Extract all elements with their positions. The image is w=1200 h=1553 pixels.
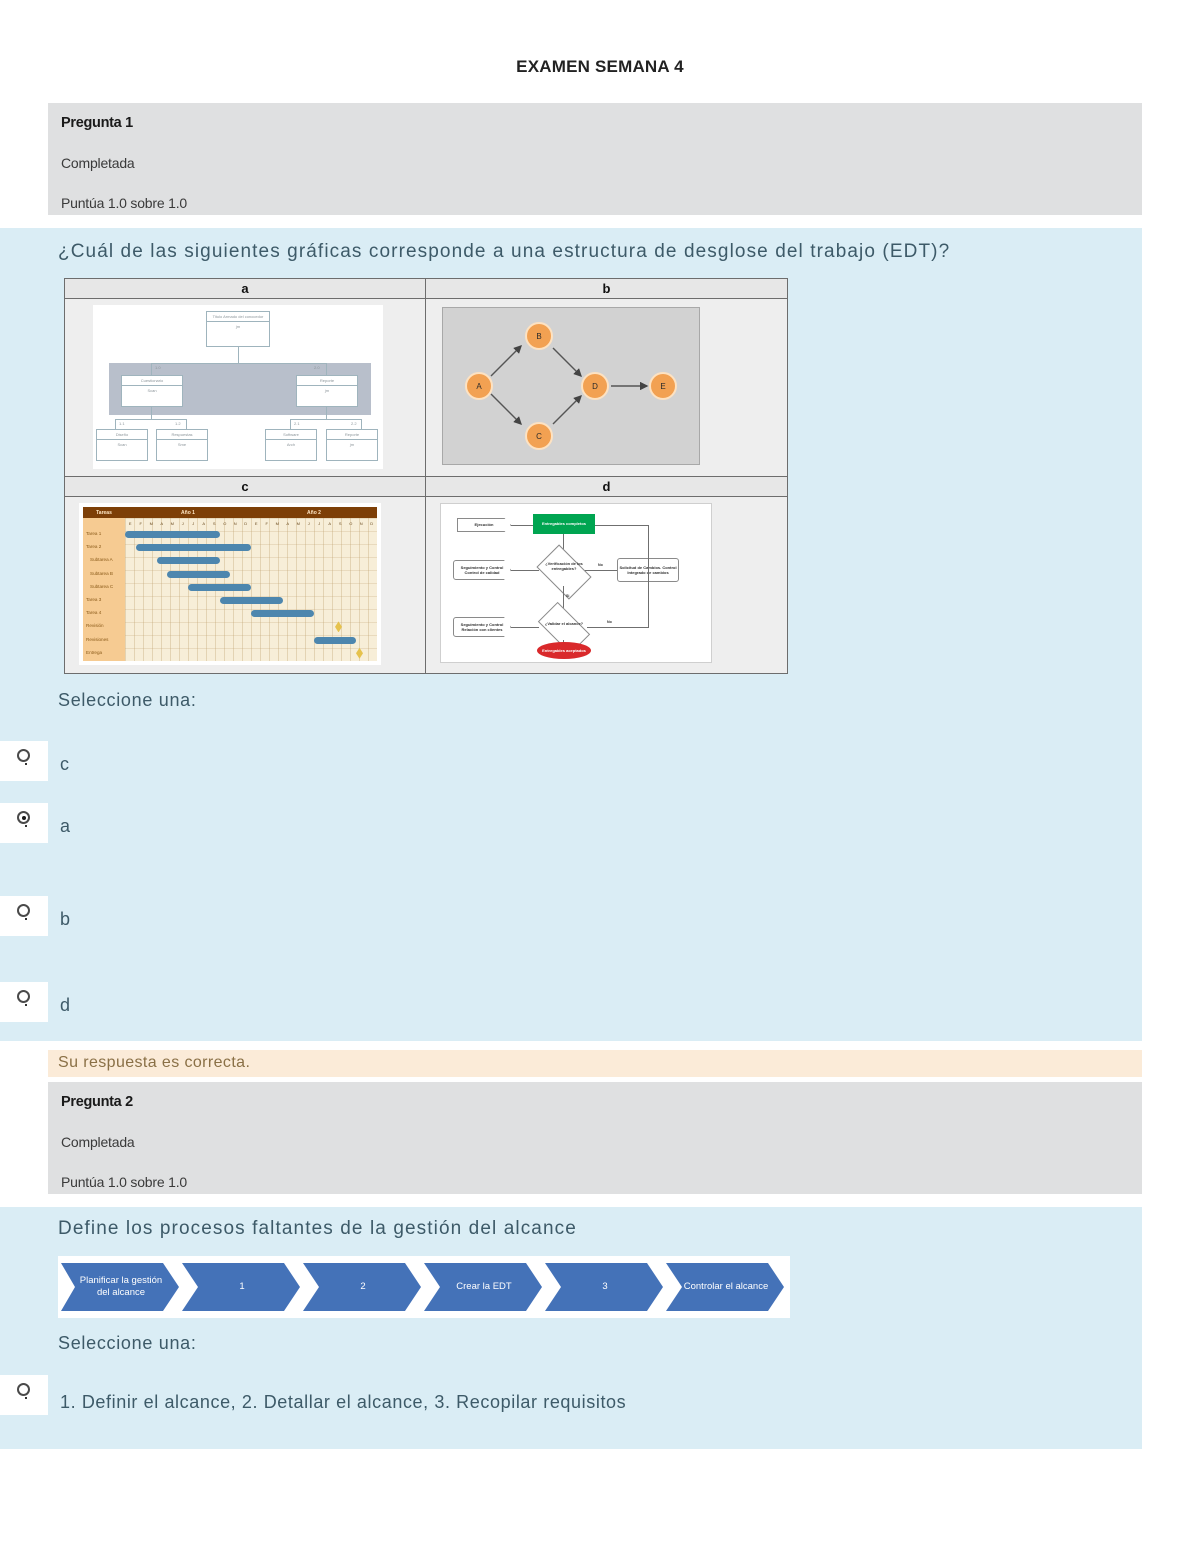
gantt-month-tick: M	[293, 521, 304, 526]
question-1-text: ¿Cuál de las siguientes gráficas corresp…	[58, 241, 950, 263]
figure-c-gantt-chart: Tareas Año 1 Año 2 EFMAMJJASONDEFMAMJJAS…	[65, 497, 426, 673]
flow-connector	[511, 570, 539, 571]
network-diagram: A B C D E	[442, 307, 700, 465]
wbs-diagram: Titulo Armado del conocedor jm 1.0 2.0 C…	[93, 305, 383, 469]
wbs-node-1-1: Diseño Scan	[96, 429, 148, 461]
gantt-month-tick: S	[335, 521, 346, 526]
flow-left-node-2: Seguimiento y Control Relación con clien…	[453, 617, 511, 637]
wbs-root-title: Titulo Armado del conocedor	[207, 312, 269, 321]
figure-caption-b: b	[426, 279, 787, 299]
wbs-connector	[361, 419, 362, 429]
gantt-month-tick: D	[241, 521, 252, 526]
process-step-1: Planificar la gestión del alcance	[61, 1263, 179, 1311]
question-2-number: Pregunta 2	[61, 1094, 1132, 1110]
wbs-code-1-1: 1.1	[119, 421, 125, 426]
wbs-node-2-1-title: Software	[266, 430, 316, 439]
question-2-grade: Puntúa 1.0 sobre 1.0	[61, 1174, 1132, 1190]
gantt-row-label: Tarea 2	[86, 544, 101, 549]
gantt-month-tick: M	[146, 521, 157, 526]
gantt-month-tick: J	[188, 521, 199, 526]
question-2-option-0-radio[interactable]	[0, 1375, 48, 1415]
flow-end-node: Entregables aceptados	[537, 642, 591, 659]
gantt-row-label: Tarea 1	[86, 531, 101, 536]
question-1-select-label: Seleccione una:	[58, 690, 197, 711]
question-1-state: Completada	[61, 155, 1132, 171]
gantt-month-tick: A	[283, 521, 294, 526]
gantt-header-tasks: Tareas	[83, 507, 125, 518]
wbs-code-1-0: 1.0	[155, 365, 161, 370]
gantt-month-tick: M	[167, 521, 178, 526]
page-title: EXAMEN SEMANA 4	[0, 57, 1200, 77]
gantt-month-tick: S	[209, 521, 220, 526]
process-step-5: 3	[545, 1263, 663, 1311]
question-1-option-2-label[interactable]: b	[60, 909, 71, 930]
process-step-6: Controlar el alcance	[666, 1263, 784, 1311]
gantt-month-tick: O	[220, 521, 231, 526]
network-node-a: A	[465, 372, 493, 400]
network-node-c: C	[525, 422, 553, 450]
wbs-node-1-0-sub: Scan	[122, 385, 182, 395]
flow-connector	[648, 525, 649, 627]
gantt-month-tick: O	[346, 521, 357, 526]
figure-caption-d: d	[426, 477, 787, 497]
gantt-row-label: Subtarea C	[90, 584, 113, 589]
gantt-row-label: Tarea 4	[86, 610, 101, 615]
question-1-feedback: Su respuesta es correcta.	[48, 1050, 1142, 1077]
gantt-month-tick: A	[325, 521, 336, 526]
question-1-option-3-radio[interactable]	[0, 982, 48, 1022]
flow-connector	[587, 627, 649, 628]
gantt-header-year-2: Año 2	[251, 507, 377, 518]
flow-connector	[511, 525, 533, 526]
gantt-month-tick: A	[199, 521, 210, 526]
radio-icon[interactable]	[17, 749, 30, 762]
wbs-code-2-1: 2.1	[294, 421, 300, 426]
figure-caption-a: a	[65, 279, 426, 299]
network-node-b: B	[525, 322, 553, 350]
gantt-month-ticks: EFMAMJJASONDEFMAMJJASOND	[125, 518, 377, 528]
question-1-option-1-label[interactable]: a	[60, 816, 71, 837]
question-1-option-0-radio[interactable]	[0, 741, 48, 781]
question-1-option-3-label[interactable]: d	[60, 995, 71, 1016]
question-2-select-label: Seleccione una:	[58, 1333, 197, 1354]
question-2-option-0-label[interactable]: 1. Definir el alcance, 2. Detallar el al…	[60, 1392, 626, 1413]
radio-icon-selected[interactable]	[17, 811, 30, 824]
gantt-row-label: Subtarea B	[90, 571, 113, 576]
gantt-bar	[314, 637, 356, 644]
flow-connector	[511, 627, 539, 628]
gantt-bar	[188, 584, 251, 591]
figure-a-wbs-tree: Titulo Armado del conocedor jm 1.0 2.0 C…	[65, 299, 426, 477]
flow-decision-2-label: ¿Validar el alcance?	[541, 621, 587, 626]
wbs-code-2-2: 2.2	[351, 421, 357, 426]
wbs-node-2-2-sub: jm	[327, 439, 377, 449]
process-step-2: 1	[182, 1263, 300, 1311]
wbs-node-2-2-title: Reporte	[327, 430, 377, 439]
wbs-node-1-1-title: Diseño	[97, 430, 147, 439]
wbs-connector	[326, 407, 327, 419]
gantt-bar	[251, 610, 314, 617]
gantt-row-label: Entrega	[86, 650, 102, 655]
wbs-connector	[151, 363, 327, 364]
gantt-bar	[220, 597, 283, 604]
wbs-node-1-2-title: Respuestas	[157, 430, 207, 439]
flow-connector	[595, 525, 649, 526]
flow-green-node: Entregables completos	[533, 514, 595, 534]
figure-caption-c: c	[65, 477, 426, 497]
wbs-root-node: Titulo Armado del conocedor jm	[206, 311, 270, 347]
flow-decision-1	[536, 544, 591, 599]
wbs-node-1-0-title: Cuestionario	[122, 376, 182, 385]
wbs-node-1-2: Respuestas Sme	[156, 429, 208, 461]
gantt-month-tick: N	[230, 521, 241, 526]
gantt-bar	[167, 571, 230, 578]
wbs-connector	[186, 419, 187, 429]
wbs-code-1-2: 1.2	[175, 421, 181, 426]
question-1-meta: Pregunta 1 Completada Puntúa 1.0 sobre 1…	[48, 103, 1142, 215]
flow-decision-1-label: ¿Verificación de los entregables?	[539, 561, 589, 571]
gantt-bar	[125, 531, 220, 538]
gantt-month-tick: E	[125, 521, 136, 526]
wbs-connector	[151, 363, 152, 375]
wbs-node-2-2: Reporte jm	[326, 429, 378, 461]
network-node-d: D	[581, 372, 609, 400]
wbs-connector	[151, 407, 152, 419]
flow-label-no-1: No	[598, 563, 603, 567]
gantt-row-label: Revisión	[86, 623, 104, 628]
gantt-month-tick: A	[157, 521, 168, 526]
wbs-connector	[326, 363, 327, 375]
wbs-connector	[290, 419, 291, 429]
flowchart-diagram: Ejecución Entregables completos ¿Verific…	[440, 503, 712, 663]
wbs-node-2-0: Reporte jm	[296, 375, 358, 407]
wbs-node-2-1-sub: Arch	[266, 439, 316, 449]
process-step-3: 2	[303, 1263, 421, 1311]
wbs-connector	[115, 419, 116, 429]
wbs-connector	[238, 347, 239, 363]
wbs-connector	[115, 419, 187, 420]
gantt-row-label: Tarea 3	[86, 597, 101, 602]
gantt-row-label: Subtarea A	[90, 557, 113, 562]
gantt-month-tick: J	[314, 521, 325, 526]
wbs-node-2-1: Software Arch	[265, 429, 317, 461]
question-1-option-2-radio[interactable]	[0, 896, 48, 936]
question-2-state: Completada	[61, 1134, 1132, 1150]
process-step-4: Crear la EDT	[424, 1263, 542, 1311]
question-1-number: Pregunta 1	[61, 115, 1132, 131]
gantt-chart: Tareas Año 1 Año 2 EFMAMJJASONDEFMAMJJAS…	[79, 503, 381, 665]
gantt-month-tick: J	[304, 521, 315, 526]
radio-icon[interactable]	[17, 904, 30, 917]
gantt-bar	[157, 557, 220, 564]
network-node-e: E	[649, 372, 677, 400]
figure-d-flowchart: Ejecución Entregables completos ¿Verific…	[426, 497, 787, 673]
wbs-node-1-1-sub: Scan	[97, 439, 147, 449]
gantt-bar	[136, 544, 252, 551]
flow-connector	[585, 570, 617, 571]
question-1-option-1-radio[interactable]	[0, 803, 48, 843]
gantt-month-tick: D	[367, 521, 378, 526]
flow-label-si-1: Si	[566, 594, 569, 598]
gantt-month-tick: M	[272, 521, 283, 526]
gantt-header-year-1: Año 1	[125, 507, 251, 518]
wbs-node-2-0-title: Reporte	[297, 376, 357, 385]
gantt-month-tick: F	[136, 521, 147, 526]
gantt-row-label: Revisiones	[86, 637, 108, 642]
figure-b-network-diagram: A B C D E	[426, 299, 787, 477]
radio-icon[interactable]	[17, 990, 30, 1003]
question-1-figure-grid: a b Titulo Armado del conocedor jm 1.0 2…	[64, 278, 788, 674]
radio-icon[interactable]	[17, 1383, 30, 1396]
wbs-node-1-0: Cuestionario Scan	[121, 375, 183, 407]
wbs-node-1-2-sub: Sme	[157, 439, 207, 449]
question-1-grade: Puntúa 1.0 sobre 1.0	[61, 195, 1132, 211]
process-chevron-diagram: Planificar la gestión del alcance12Crear…	[58, 1256, 790, 1318]
wbs-code-2-0: 2.0	[314, 365, 320, 370]
gantt-month-tick: N	[356, 521, 367, 526]
wbs-connector	[290, 419, 362, 420]
question-2-text: Define los procesos faltantes de la gest…	[58, 1218, 577, 1240]
gantt-month-tick: E	[251, 521, 262, 526]
question-2-meta: Pregunta 2 Completada Puntúa 1.0 sobre 1…	[48, 1082, 1142, 1194]
question-1-option-0-label[interactable]: c	[60, 754, 70, 775]
wbs-node-2-0-sub: jm	[297, 385, 357, 395]
gantt-month-tick: F	[262, 521, 273, 526]
wbs-root-sub: jm	[207, 321, 269, 331]
flow-start-node: Ejecución	[457, 518, 511, 532]
gantt-month-tick: J	[178, 521, 189, 526]
flow-label-no-2: No	[607, 620, 612, 624]
flow-left-node-1: Seguimiento y Control Control de calidad	[453, 560, 511, 580]
